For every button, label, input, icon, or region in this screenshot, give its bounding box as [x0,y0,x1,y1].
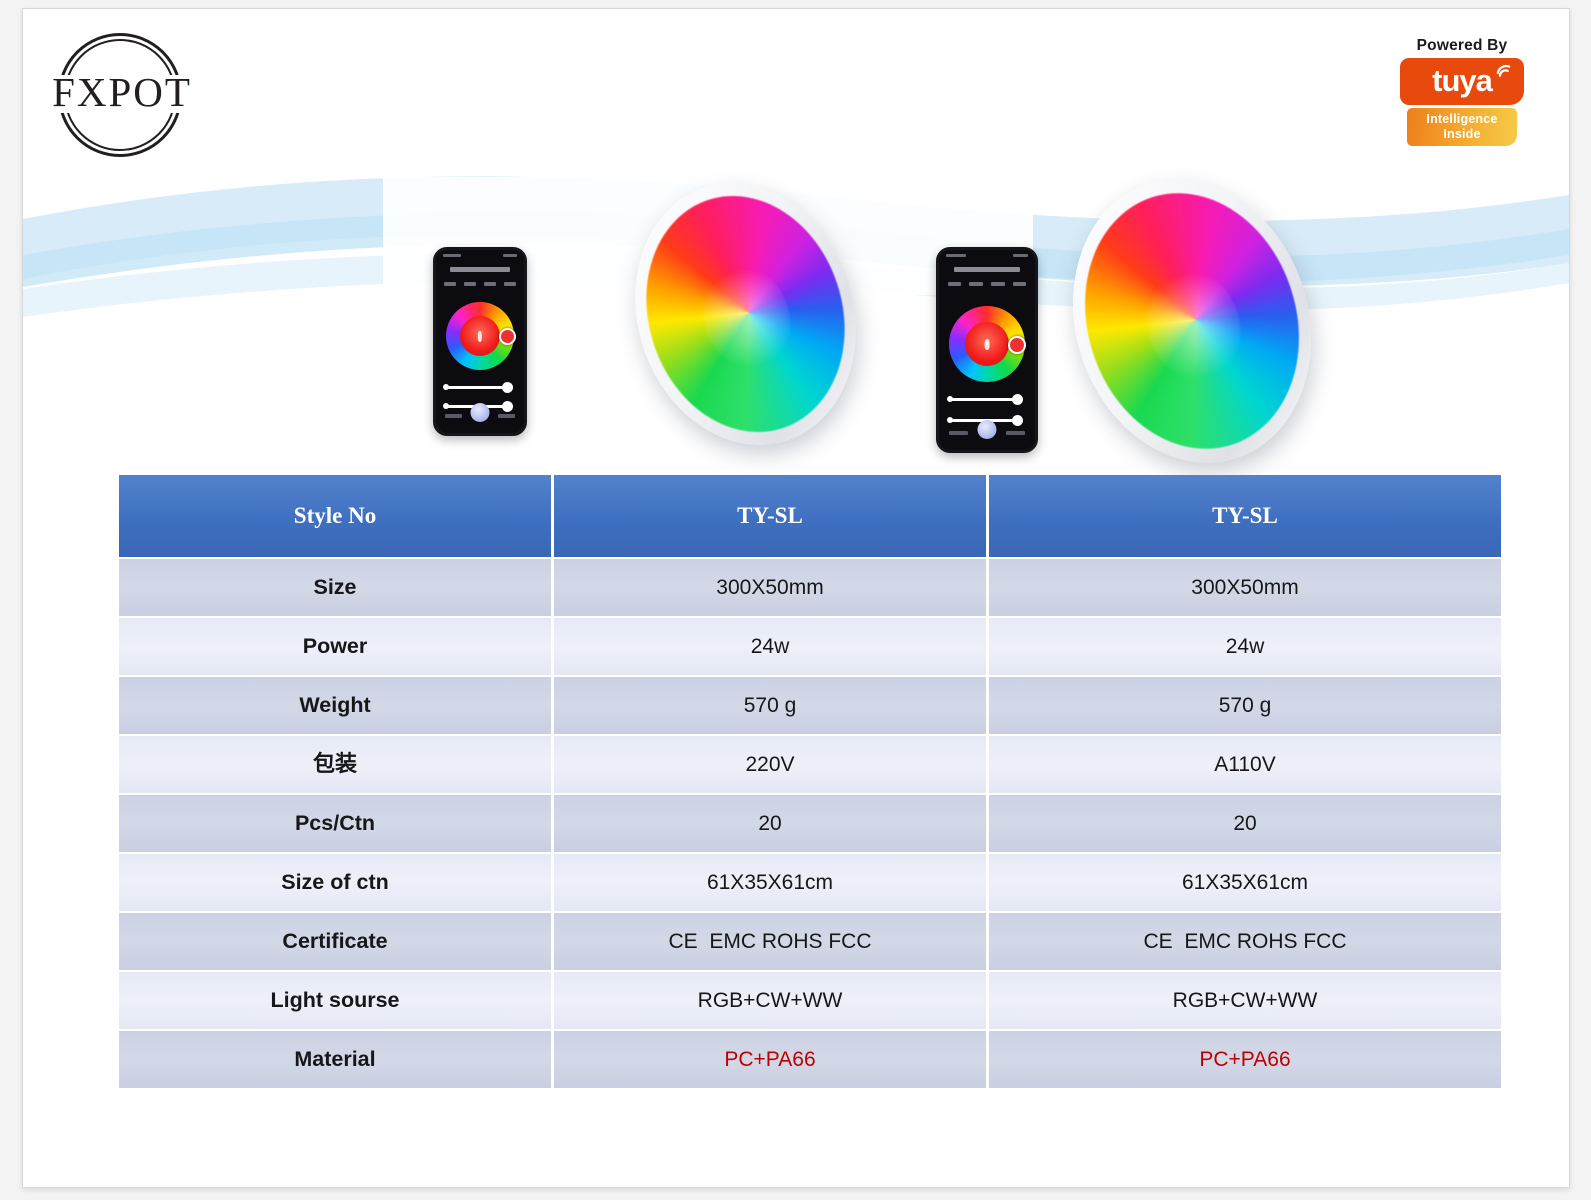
phone-status-bar [443,254,517,257]
smart-app-phone-1 [433,247,527,436]
table-row: Size 300X50mm 300X50mm [119,559,1501,616]
table-row: Power 24w 24w [119,618,1501,675]
row-value-1: 220V [554,736,986,793]
row-value-2: RGB+CW+WW [989,972,1501,1029]
row-value-2: 570 g [989,677,1501,734]
slider-thumb [502,382,513,393]
phone-tab [484,282,496,286]
row-label: Material [119,1031,551,1088]
table-row: 包装 220V A110V [119,736,1501,793]
color-wheel-handle [1008,336,1026,354]
row-value-1: 20 [554,795,986,852]
product-spec-slide: FXPOT Powered By tuya Intelligence Insid… [0,0,1591,1200]
row-value-2: CE EMC ROHS FCC [989,913,1501,970]
phone-title-bar [450,267,510,272]
row-value-1: 570 g [554,677,986,734]
tagline-line-2: Inside [1407,127,1517,142]
tagline-line-1: Intelligence [1407,112,1517,127]
intelligence-inside-box: Intelligence Inside [1407,108,1517,146]
slider-thumb [1012,415,1023,426]
table-row: Material PC+PA66 PC+PA66 [119,1031,1501,1088]
phone-tab [464,282,476,286]
phone-tab [444,282,456,286]
slide-canvas: FXPOT Powered By tuya Intelligence Insid… [22,8,1570,1188]
row-value-2: A110V [989,736,1501,793]
row-value-2: 24w [989,618,1501,675]
row-label: Weight [119,677,551,734]
smart-app-phone-2 [936,247,1038,453]
row-value-2: PC+PA66 [989,1031,1501,1088]
rgb-ceiling-light-2 [1037,148,1347,494]
slider-thumb [1012,394,1023,405]
logo-wordmark: FXPOT [51,72,193,113]
row-value-1: 24w [554,618,986,675]
phone-tab [969,282,982,286]
table-row: Certificate CE EMC ROHS FCC CE EMC ROHS … [119,913,1501,970]
status-left-glyph [443,254,461,257]
color-wheel-core [460,316,500,356]
slider-start-dot [443,384,449,390]
row-value-1: 300X50mm [554,559,986,616]
bottom-left-glyph [445,414,463,418]
phone-home-button [471,403,490,422]
phone-tab [991,282,1004,286]
phone-tab [948,282,961,286]
row-label: Power [119,618,551,675]
phone-tab [1013,282,1026,286]
specification-table: Style No TY-SL TY-SL Size 300X50mm 300X5… [119,475,1501,1090]
row-label: Light sourse [119,972,551,1029]
row-value-1: PC+PA66 [554,1031,986,1088]
phone-tab [504,282,516,286]
status-left-glyph [946,254,966,257]
lamp-rgb-face [1053,165,1332,476]
table-header-row: Style No TY-SL TY-SL [119,475,1501,557]
row-label: Certificate [119,913,551,970]
phone-bottom-bar [939,427,1035,445]
slider-start-dot [443,403,449,409]
status-right-glyph [1013,254,1028,257]
row-label: Size [119,559,551,616]
phone-bottom-bar [436,410,524,428]
brightness-slider [446,386,508,389]
brightness-slider [950,398,1018,401]
phone-status-bar [946,254,1028,257]
brand-logo: FXPOT [53,31,191,155]
table-row: Pcs/Ctn 20 20 [119,795,1501,852]
color-wheel-handle [499,328,516,345]
row-label: Pcs/Ctn [119,795,551,852]
bottom-right-glyph [498,414,516,418]
row-value-1: 61X35X61cm [554,854,986,911]
table-row: Light sourse RGB+CW+WW RGB+CW+WW [119,972,1501,1029]
phone-tab-strip [444,282,516,286]
tuya-logo-box: tuya [1400,58,1524,105]
slider-start-dot [947,417,953,423]
header-variant-1: TY-SL [554,475,986,557]
header-style-no: Style No [119,475,551,557]
phone-home-button [978,420,997,439]
table-row: Size of ctn 61X35X61cm 61X35X61cm [119,854,1501,911]
slider-start-dot [947,396,953,402]
row-value-1: RGB+CW+WW [554,972,986,1029]
row-value-2: 20 [989,795,1501,852]
phone-tab-strip [948,282,1027,286]
row-label: 包装 [119,736,551,793]
wifi-signal-icon [1495,63,1512,80]
row-value-2: 61X35X61cm [989,854,1501,911]
header-variant-2: TY-SL [989,475,1501,557]
tuya-powered-badge: Powered By tuya Intelligence Inside [1399,37,1525,146]
bottom-left-glyph [949,431,968,435]
bottom-right-glyph [1006,431,1025,435]
row-value-1: CE EMC ROHS FCC [554,913,986,970]
color-wheel-core [965,322,1009,366]
powered-by-label: Powered By [1399,37,1525,55]
table-row: Weight 570 g 570 g [119,677,1501,734]
row-value-2: 300X50mm [989,559,1501,616]
phone-title-bar [954,267,1019,272]
status-right-glyph [503,254,517,257]
row-label: Size of ctn [119,854,551,911]
